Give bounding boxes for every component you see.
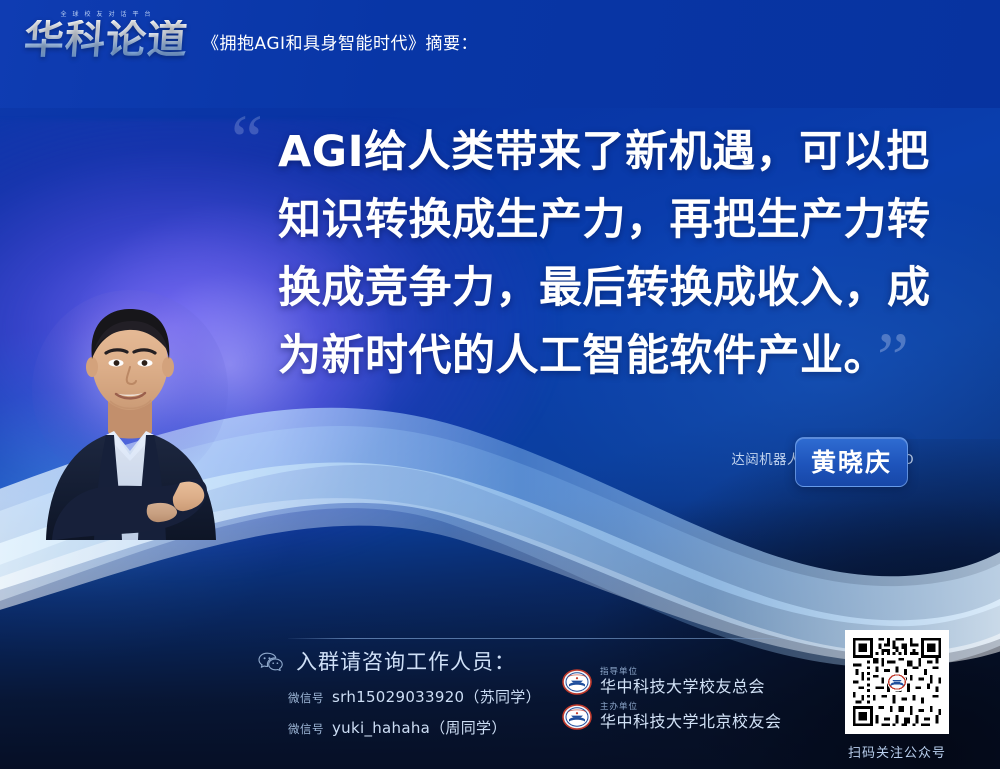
organization-name: 华中科技大学北京校友会 [600, 713, 782, 731]
contact-label: 微信号 [288, 690, 324, 706]
contact-title: 入群请咨询工作人员： [296, 646, 516, 676]
university-emblem-icon [562, 704, 592, 730]
footer-divider [288, 638, 788, 639]
quote-open-mark: “ [231, 104, 263, 176]
poster-header: 全 球 校 友 对 话 平 台 华科论道 《拥抱AGI和具身智能时代》摘要： [24, 12, 478, 60]
brand-logo-text: 华科论道 [23, 20, 190, 60]
contact-value[interactable]: yuki_hahaha（周同学） [332, 717, 507, 738]
speaker-portrait [30, 285, 235, 540]
contact-row: 微信号 yuki_hahaha（周同学） [258, 717, 541, 738]
contact-label: 微信号 [288, 721, 324, 737]
contact-header: 入群请咨询工作人员： [258, 646, 541, 676]
speaker-name-badge: 黄晓庆 [795, 437, 908, 487]
speaker-name: 黄晓庆 [811, 448, 892, 477]
qr-block: 扫码关注公众号 [838, 630, 956, 761]
organization-text: 指导单位 华中科技大学校友总会 [600, 668, 765, 695]
contact-value[interactable]: srh15029033920（苏同学） [332, 686, 541, 707]
organization-text: 主办单位 华中科技大学北京校友会 [600, 703, 782, 730]
qr-caption: 扫码关注公众号 [838, 742, 956, 761]
poster-root: 全 球 校 友 对 话 平 台 华科论道 《拥抱AGI和具身智能时代》摘要： [0, 0, 1000, 769]
organization-row: 主办单位 华中科技大学北京校友会 [562, 703, 782, 730]
header-subtitle: 《拥抱AGI和具身智能时代》摘要： [202, 29, 478, 60]
quote-line: 为新时代的人工智能软件产业。 [278, 322, 946, 390]
contact-block: 入群请咨询工作人员： 微信号 srh15029033920（苏同学） 微信号 y… [258, 646, 541, 738]
brand-logo: 全 球 校 友 对 话 平 台 华科论道 [24, 12, 188, 60]
university-emblem-icon [562, 669, 592, 695]
organization-row: 指导单位 华中科技大学校友总会 [562, 668, 782, 695]
quote-line: 换成竞争力，最后转换成收入，成 [278, 254, 946, 322]
organizations-block: 指导单位 华中科技大学校友总会 主办单位 华中科技大学北京校友会 [562, 668, 782, 730]
organization-name: 华中科技大学校友总会 [600, 678, 765, 696]
organization-kind: 主办单位 [600, 703, 782, 712]
contact-row: 微信号 srh15029033920（苏同学） [258, 686, 541, 707]
quote-line: 知识转换成生产力，再把生产力转 [278, 186, 946, 254]
quote-close-mark: ” [877, 322, 909, 394]
quote-block: AGI给人类带来了新机遇，可以把 知识转换成生产力，再把生产力转 换成竞争力，最… [278, 118, 946, 390]
qr-code[interactable] [845, 630, 949, 734]
organization-kind: 指导单位 [600, 668, 765, 677]
quote-line: AGI给人类带来了新机遇，可以把 [278, 118, 946, 186]
wechat-icon [258, 652, 284, 671]
